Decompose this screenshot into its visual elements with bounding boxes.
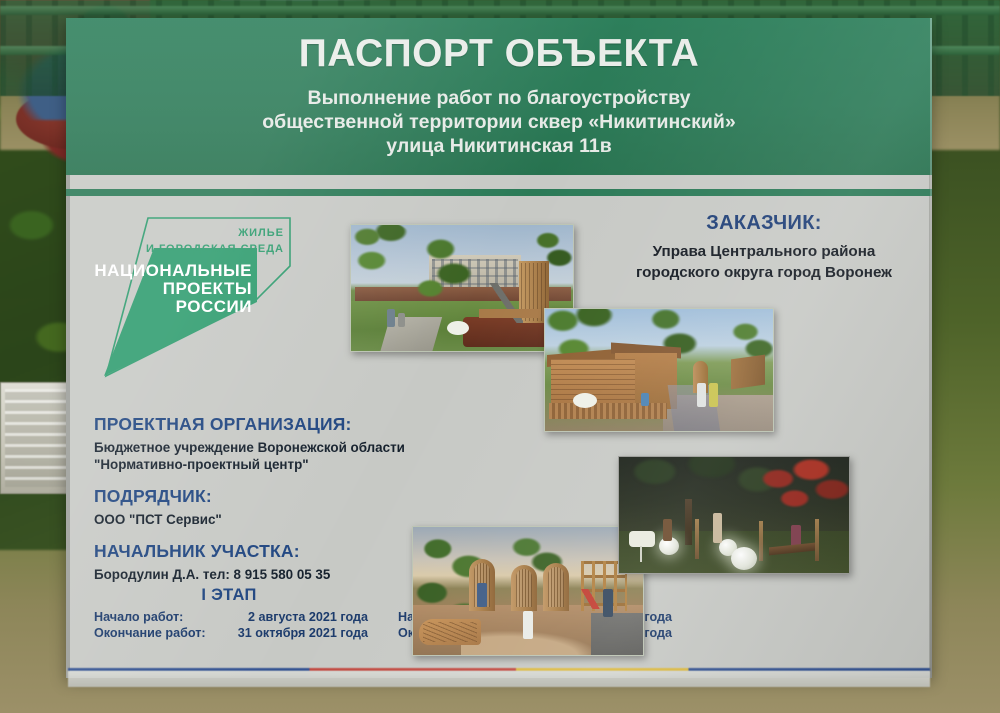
r4-tree-trunk [685, 499, 692, 545]
wooden-houses-rendering [544, 308, 774, 432]
r4-red-maple-tree [751, 459, 850, 535]
r3-curved-bench [419, 619, 481, 645]
r2-info-sign [573, 393, 597, 408]
r4-glowing-orb-3 [731, 547, 757, 570]
photo-scene: ПАСПОРТ ОБЪЕКТА Выполнение работ по благ… [0, 0, 1000, 713]
playground-tower-rendering [350, 224, 574, 352]
stage-1-start-label: Начало работ: [84, 609, 221, 625]
table-row: Начало работ: 2 августа 2021 года [84, 609, 374, 625]
stage-1: I ЭТАП Начало работ: 2 августа 2021 года… [84, 586, 374, 641]
table-row: Окончание работ: 31 октября 2021 года [84, 625, 374, 641]
header-subtitle-line-2: общественной территории сквер «Никитинск… [66, 110, 932, 134]
arches-bench-rendering [412, 526, 644, 656]
page-title: ПАСПОРТ ОБЪЕКТА [66, 32, 932, 76]
contractor-value: ООО "ПСТ Сервис" [94, 511, 434, 528]
r4-person-standing [713, 513, 722, 543]
r1-child-figure [398, 313, 405, 327]
stage-1-end-label: Окончание работ: [84, 625, 221, 641]
r2-wooden-fence [549, 403, 667, 419]
logo-main-line-3: РОССИИ [176, 297, 252, 316]
r4-person-with-guitar [663, 519, 672, 541]
logo-main-line-2: ПРОЕКТЫ [163, 279, 252, 298]
customer-title: ЗАКАЗЧИК: [606, 212, 922, 235]
r3-arch-2 [511, 565, 537, 611]
customer-line-2: городского округа город Воронеж [606, 263, 922, 283]
contractor-title: ПОДРЯДЧИК: [94, 486, 434, 507]
stage-1-title: I ЭТАП [84, 586, 374, 605]
r2-pergola [731, 355, 765, 390]
r3-arch-3 [543, 563, 569, 611]
r1-tree-center [411, 231, 485, 313]
logo-main-line-1: НАЦИОНАЛЬНЫЕ [94, 261, 252, 280]
r3-child-figure [523, 611, 533, 639]
r2-child-figure [641, 393, 649, 406]
stage-1-start-value: 2 августа 2021 года [221, 609, 374, 625]
info-block: ПРОЕКТНАЯ ОРГАНИЗАЦИЯ: Бюджетное учрежде… [94, 414, 434, 583]
r3-asphalt-area [591, 613, 644, 656]
r1-adult-figure [387, 309, 395, 327]
r3-person-on-swing [477, 583, 487, 607]
night-lighting-rendering [618, 456, 850, 574]
foreman-title: НАЧАЛЬНИК УЧАСТКА: [94, 541, 434, 562]
design-org-title: ПРОЕКТНАЯ ОРГАНИЗАЦИЯ: [94, 414, 434, 435]
header-divider-stripe [66, 189, 932, 196]
foreman-value: Бородулин Д.А. тел: 8 915 580 05 35 [94, 566, 434, 583]
fence-rail-top [0, 6, 1000, 15]
header-subtitle-line-3: улица Никитинская 11в [66, 134, 932, 158]
r4-wooden-post-3 [815, 519, 819, 561]
logo-top-line-2: И ГОРОДСКАЯ СРЕДА [146, 243, 284, 255]
r4-wooden-post-2 [759, 521, 763, 561]
board-body: ЖИЛЬЕ И ГОРОДСКАЯ СРЕДА НАЦИОНАЛЬНЫЕ ПРО… [66, 196, 932, 678]
r3-curved-walkway [461, 619, 611, 656]
board-header: ПАСПОРТ ОБЪЕКТА Выполнение работ по благ… [66, 18, 932, 175]
r3-adult-figure [603, 589, 613, 617]
national-projects-logo: ЖИЛЬЕ И ГОРОДСКАЯ СРЕДА НАЦИОНАЛЬНЫЕ ПРО… [94, 210, 306, 385]
information-board: ПАСПОРТ ОБЪЕКТА Выполнение работ по благ… [66, 18, 932, 678]
banner-bottom-hem [68, 671, 930, 687]
design-org-line-2: "Нормативно-проектный центр" [94, 456, 434, 473]
header-subtitle-line-1: Выполнение работ по благоустройству [66, 86, 932, 110]
r2-person-male [697, 383, 706, 407]
board-edge-seam [930, 18, 932, 678]
r3-red-slide [579, 589, 601, 609]
logo-top-line-1: ЖИЛЬЕ [237, 227, 284, 239]
r1-info-sign [447, 321, 469, 335]
r4-info-sign [629, 531, 655, 547]
r4-wooden-post-1 [695, 519, 699, 559]
r2-person-female [709, 383, 718, 407]
r1-play-bench [479, 309, 541, 318]
customer-line-1: Управа Центрального района [606, 242, 922, 262]
design-org-line-1: Бюджетное учреждение Воронежской области [94, 439, 434, 456]
customer-block: ЗАКАЗЧИК: Управа Центрального района гор… [606, 212, 922, 283]
stage-1-end-value: 31 октября 2021 года [221, 625, 374, 641]
